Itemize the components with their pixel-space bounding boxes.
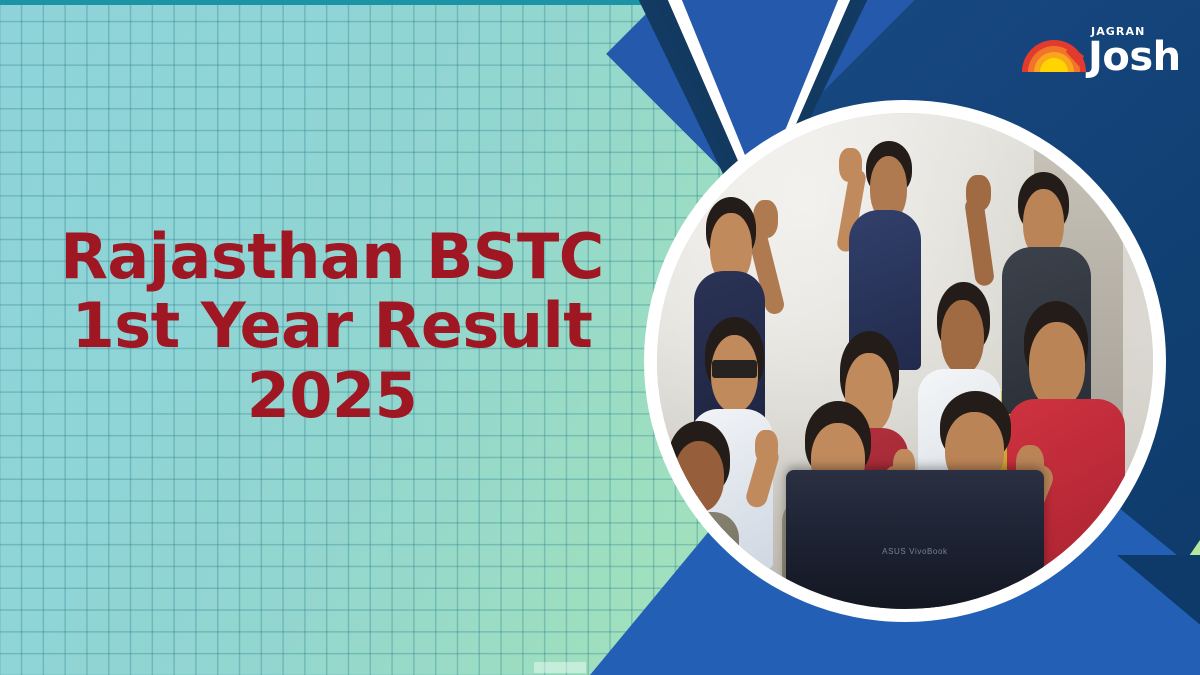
logo-josh-text: Josh [1088,38,1181,76]
sunrise-icon [1022,36,1086,72]
students-celebration-photo: S [657,113,1153,609]
headline-line-3: 2025 [52,361,612,430]
headline-line-2: 1st Year Result [52,291,612,360]
headline-line-1: Rajasthan BSTC [52,222,612,291]
page-title: Rajasthan BSTC 1st Year Result 2025 [52,222,612,430]
jagran-josh-logo[interactable]: JAGRAN Josh [1022,22,1172,84]
laptop-brand-label: ASUS VivoBook [882,547,947,556]
photo-scene: S [657,113,1153,609]
laptop-lid: ASUS VivoBook [786,470,1044,609]
logo-wordmark: JAGRAN Josh [1088,22,1181,76]
bottom-watermark [534,662,586,673]
result-banner: S [0,0,1200,675]
